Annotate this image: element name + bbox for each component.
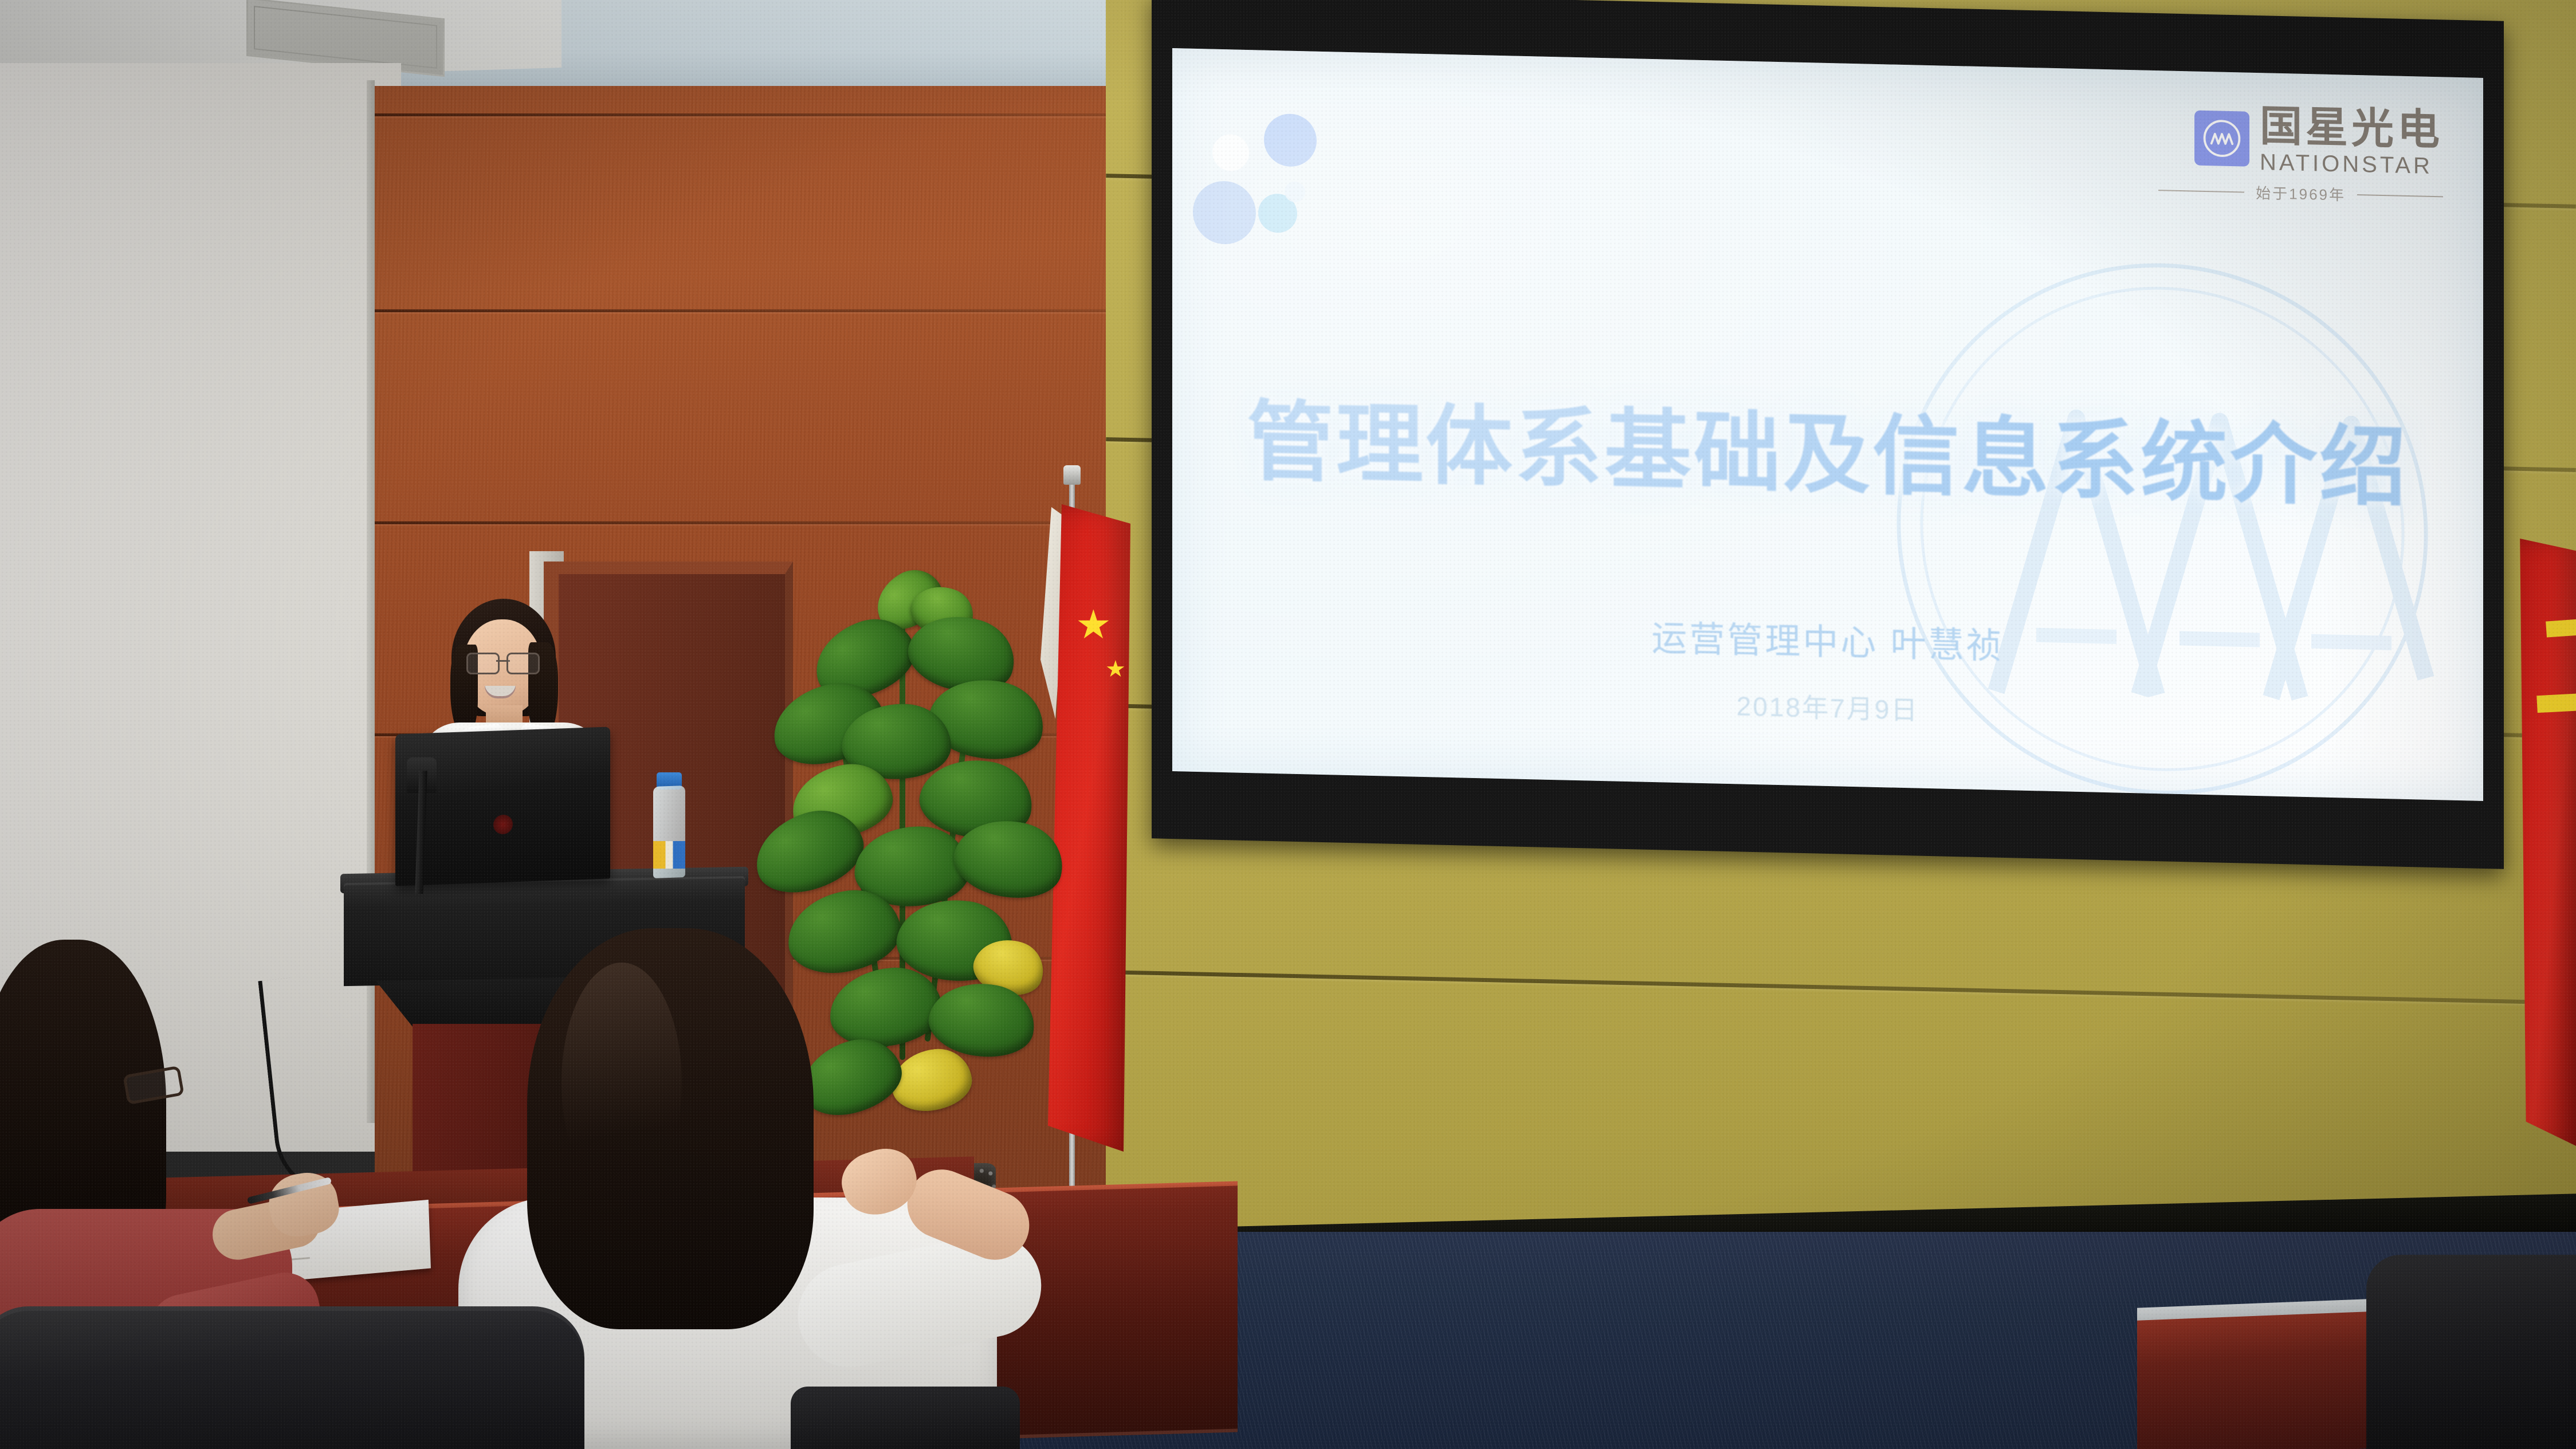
- slide-decor-circle: [1285, 181, 1305, 202]
- slide-presenter-line: 运营管理中心 叶慧祯: [1172, 598, 2483, 680]
- bottle-label: [653, 841, 685, 869]
- slide-title: 管理体系基础及信息系统介绍: [1172, 369, 2483, 525]
- slide-brand-logo: 国星光电 NATIONSTAR 始于1969年: [2158, 103, 2443, 207]
- projected-slide: 国星光电 NATIONSTAR 始于1969年 管理体系基础及信息系统介绍 运营…: [1172, 48, 2483, 801]
- flagpole-cap-icon: [1063, 465, 1081, 485]
- office-chair-left[interactable]: [0, 1306, 584, 1449]
- logo-tagline: 始于1969年: [2256, 182, 2346, 205]
- projection-screen: 国星光电 NATIONSTAR 始于1969年 管理体系基础及信息系统介绍 运营…: [1152, 0, 2504, 869]
- red-banner-flag: [2516, 539, 2576, 1146]
- logo-rule-left: [2158, 190, 2244, 193]
- slide-decor-circle: [1212, 134, 1249, 171]
- logo-english-name: NATIONSTAR: [2260, 151, 2443, 178]
- office-chair-right[interactable]: [2366, 1255, 2576, 1449]
- slide-date: 2018年7月9日: [1172, 673, 2483, 740]
- slide-decor-circle: [1193, 180, 1256, 245]
- chair[interactable]: [791, 1387, 1020, 1449]
- laptop[interactable]: [395, 727, 610, 886]
- nationstar-wave-circle-icon: [2194, 111, 2249, 167]
- flag-star-icon: ★: [1105, 658, 1126, 681]
- conference-room-photo: 国星光电 NATIONSTAR 始于1969年 管理体系基础及信息系统介绍 运营…: [0, 0, 2576, 1449]
- attendee-hair-sheen: [561, 963, 682, 1203]
- glasses-icon: [466, 653, 540, 671]
- slide-decor-circle: [1264, 113, 1317, 167]
- logo-chinese-name: 国星光电: [2260, 105, 2443, 151]
- logo-tagline-row: 始于1969年: [2158, 179, 2443, 207]
- logo-rule-right: [2357, 194, 2443, 197]
